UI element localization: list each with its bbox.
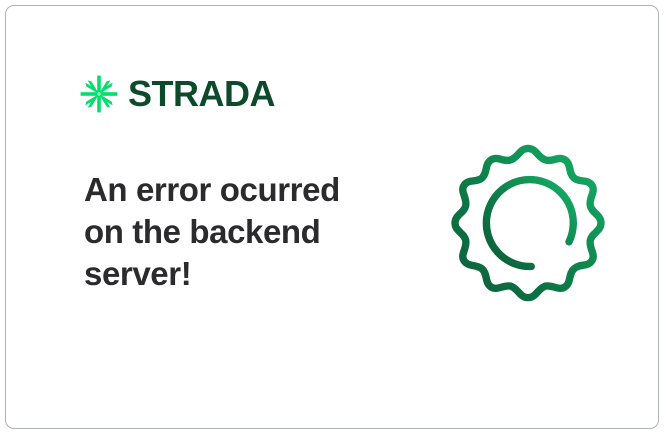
error-headline: An error ocurred on the backend server! xyxy=(84,169,384,295)
gear-cog-icon xyxy=(446,141,610,305)
brand-wordmark: STRADA xyxy=(128,76,275,112)
error-card: STRADA An error ocurred on the backend s… xyxy=(5,5,659,429)
brand-lockup: STRADA xyxy=(79,74,275,114)
strada-asterisk-icon xyxy=(79,74,119,114)
